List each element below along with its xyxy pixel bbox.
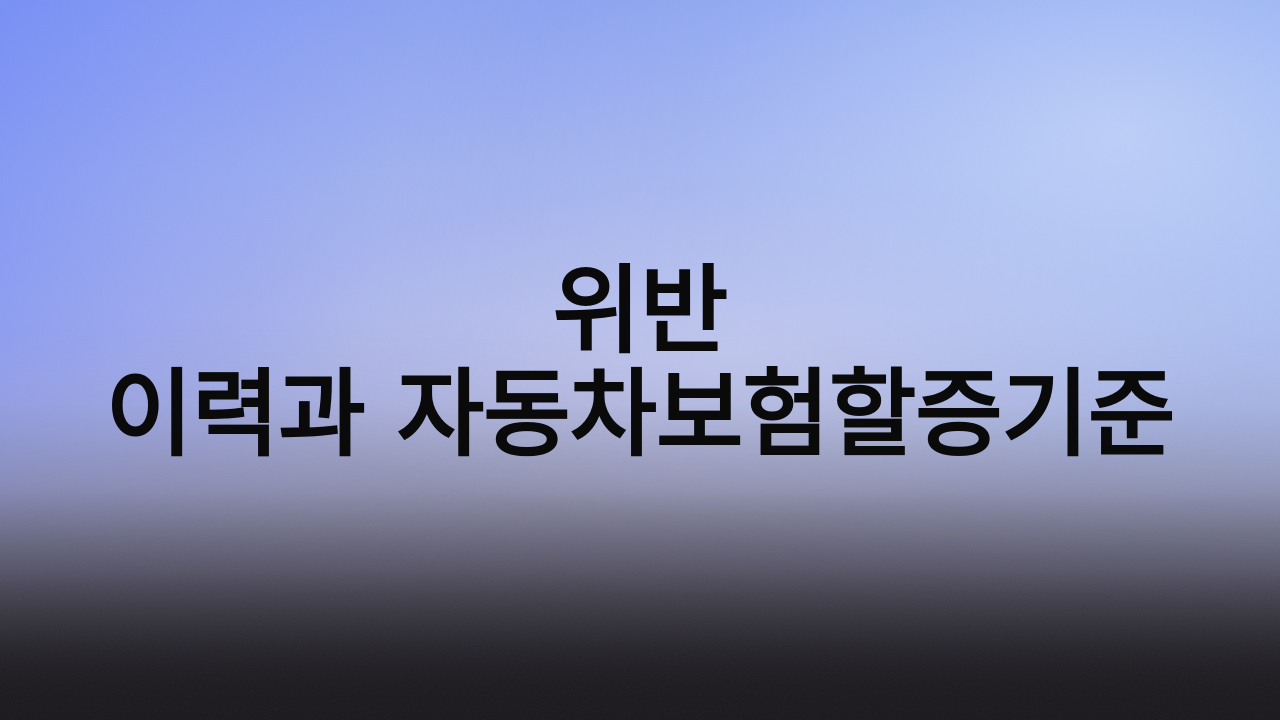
headline-block: 위반 이력과 자동차보험할증기준 xyxy=(0,0,1280,720)
title-card: 위반 이력과 자동차보험할증기준 xyxy=(0,0,1280,720)
headline-line-1: 위반 xyxy=(553,260,728,364)
headline-line-2: 이력과 자동차보험할증기준 xyxy=(106,364,1175,467)
